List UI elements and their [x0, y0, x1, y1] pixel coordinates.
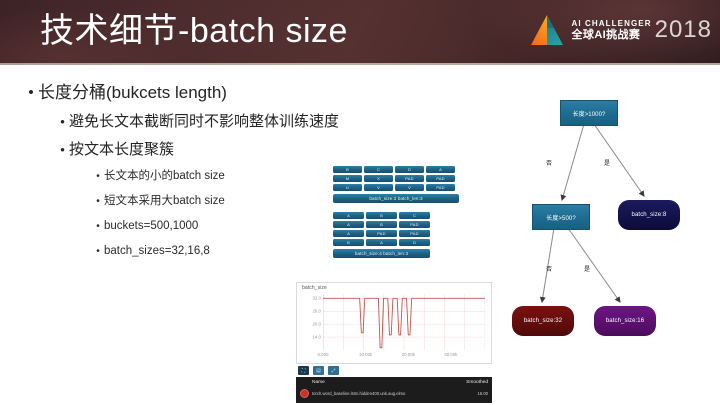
chart-x-tick-label: 0.000	[318, 352, 329, 358]
header-divider	[0, 63, 720, 65]
bullet-text: 按文本长度聚簇	[69, 136, 174, 164]
bullet-item: • 长文本的小的batch size	[92, 164, 316, 189]
bullet-text: batch_sizes=32,16,8	[104, 239, 210, 264]
bullet-marker: •	[92, 214, 104, 239]
chart-y-tick-label: 14.0	[312, 335, 321, 340]
batch-cell: PAD	[399, 221, 430, 228]
batch-cell: D	[395, 166, 424, 173]
legend-row[interactable]: torch.word_baseline.lstm.hidden400.unk.a…	[300, 389, 488, 398]
chart-y-tick-label: 20.0	[312, 322, 321, 327]
bullet-item: • buckets=500,1000	[92, 214, 316, 239]
legend-col-name: Name	[312, 379, 325, 387]
flow-node-batch8: batch_size:8	[618, 200, 680, 230]
flow-node-batch16: batch_size:16	[594, 306, 656, 336]
chart-x-tick-label: 30.00k	[444, 352, 457, 358]
batch-cell: PAD	[395, 175, 424, 182]
batch-cell: B	[333, 166, 362, 173]
legend-run-name: torch.word_baseline.lstm.hidden400.unk.a…	[312, 390, 478, 398]
flow-edge-label-yes-1: 是	[604, 158, 610, 167]
bullet-marker: •	[92, 239, 104, 264]
legend-header: Name Smoothed	[300, 379, 488, 387]
bullet-item: • 长度分桶(bukcets length)	[24, 78, 316, 108]
chart-x-tick-label: 10.00k	[359, 352, 372, 358]
chart-plot-area	[323, 294, 485, 350]
legend-smoothed-value: 16.00	[478, 390, 488, 398]
batch-cell: X	[364, 175, 393, 182]
logo-year-text: 2018	[655, 17, 712, 43]
bullet-marker: •	[92, 189, 104, 214]
page-title: 技术细节-batch size	[40, 7, 348, 55]
batch-cell: U	[333, 184, 362, 191]
batch-cell: PAD	[366, 230, 397, 237]
bullet-text: 避免长文本截断同时不影响整体训练速度	[69, 108, 339, 136]
bullet-marker: •	[92, 164, 104, 189]
batch-cell: M	[333, 175, 362, 182]
batch-grid: BCDAMXPADPADUVVPAD	[333, 166, 459, 191]
slide-header: 技术细节-batch size AI CHALLENGER	[0, 0, 720, 63]
bullet-item: • 短文本采用大batch size	[92, 189, 316, 214]
bullet-item: • 按文本长度聚簇	[56, 136, 316, 164]
logo-cn-text: 全球AI挑战赛	[572, 29, 652, 42]
batch-cell: B	[333, 239, 364, 246]
chart-icon[interactable]: ▤	[313, 366, 324, 375]
bullet-text: 长度分桶(bukcets length)	[38, 78, 227, 108]
tensorboard-widget: batch_size 32.026.020.014.0 0.00010.00k2…	[296, 282, 492, 404]
chart-legend-panel: Name Smoothed torch.word_baseline.lstm.h…	[296, 377, 492, 403]
batch-cell: PAD	[426, 175, 455, 182]
bullet-text: 短文本采用大batch size	[104, 189, 225, 214]
chart-x-axis: 0.00010.00k20.00k30.00k	[323, 352, 485, 361]
bullet-text: 长文本的小的batch size	[104, 164, 225, 189]
ai-challenger-logo: AI CHALLENGER 全球AI挑战赛 2018	[527, 8, 712, 52]
chart-title: batch_size	[302, 285, 327, 291]
logo-en-text: AI CHALLENGER	[572, 19, 652, 29]
slide: 技术细节-batch size AI CHALLENGER	[0, 0, 720, 405]
batch-caption: batch_size:3 batch_len:3	[333, 194, 459, 203]
batch-cell: D	[399, 239, 430, 246]
batch-grid: ABCABPADAPADPADBAD	[333, 212, 430, 246]
chart-svg	[323, 294, 485, 350]
expand-icon[interactable]: ⤢	[328, 366, 339, 375]
flow-edge-label-no-1: 否	[546, 158, 552, 167]
bullet-list: • 长度分桶(bukcets length) • 避免长文本截断同时不影响整体训…	[16, 78, 316, 264]
batch-cell: C	[399, 212, 430, 219]
fullscreen-icon[interactable]: ⛶	[298, 366, 309, 375]
bucket-decision-flowchart: 长度>1000? 长度>500? batch_size:8 batch_size…	[498, 100, 716, 365]
flow-edge-label-no-2: 否	[546, 264, 552, 273]
batch-cell: A	[366, 239, 397, 246]
batch-cell: PAD	[426, 184, 455, 191]
batch-cell: PAD	[399, 230, 430, 237]
batch-cell: A	[333, 212, 364, 219]
batch-cell: B	[366, 221, 397, 228]
batch-caption: batch_size:4 batch_len:3	[333, 249, 430, 258]
bullet-marker: •	[56, 108, 69, 136]
chart-toolbar[interactable]: ⛶ ▤ ⤢	[298, 366, 492, 375]
flow-node-root: 长度>1000?	[560, 100, 618, 126]
legend-color-swatch	[300, 389, 309, 398]
chart-card: batch_size 32.026.020.014.0 0.00010.00k2…	[296, 282, 492, 364]
bullet-marker: •	[56, 136, 69, 164]
batch-cell: A	[333, 230, 364, 237]
batch-cell: A	[333, 221, 364, 228]
bullet-marker: •	[24, 78, 38, 108]
batch-cell: V	[364, 184, 393, 191]
legend-col-smoothed: Smoothed	[466, 379, 488, 387]
chart-y-tick-label: 26.0	[312, 309, 321, 314]
triangle-logo-icon	[527, 13, 567, 47]
batch-cell: C	[364, 166, 393, 173]
batch-cell: A	[426, 166, 455, 173]
batch-figure-top: BCDAMXPADPADUVVPAD batch_size:3 batch_le…	[333, 166, 459, 203]
bullet-text: buckets=500,1000	[104, 214, 198, 239]
chart-y-axis: 32.026.020.014.0	[299, 294, 322, 350]
flow-node-batch32: batch_size:32	[512, 306, 574, 336]
chart-x-tick-label: 20.00k	[402, 352, 415, 358]
bullet-item: • batch_sizes=32,16,8	[92, 239, 316, 264]
chart-y-tick-label: 32.0	[312, 296, 321, 301]
flow-node-mid: 长度>500?	[532, 204, 590, 230]
batch-figure-bottom: ABCABPADAPADPADBAD batch_size:4 batch_le…	[333, 212, 430, 258]
bullet-item: • 避免长文本截断同时不影响整体训练速度	[56, 108, 316, 136]
batch-cell: B	[366, 212, 397, 219]
flow-edge-label-yes-2: 是	[584, 264, 590, 273]
batch-cell: V	[395, 184, 424, 191]
